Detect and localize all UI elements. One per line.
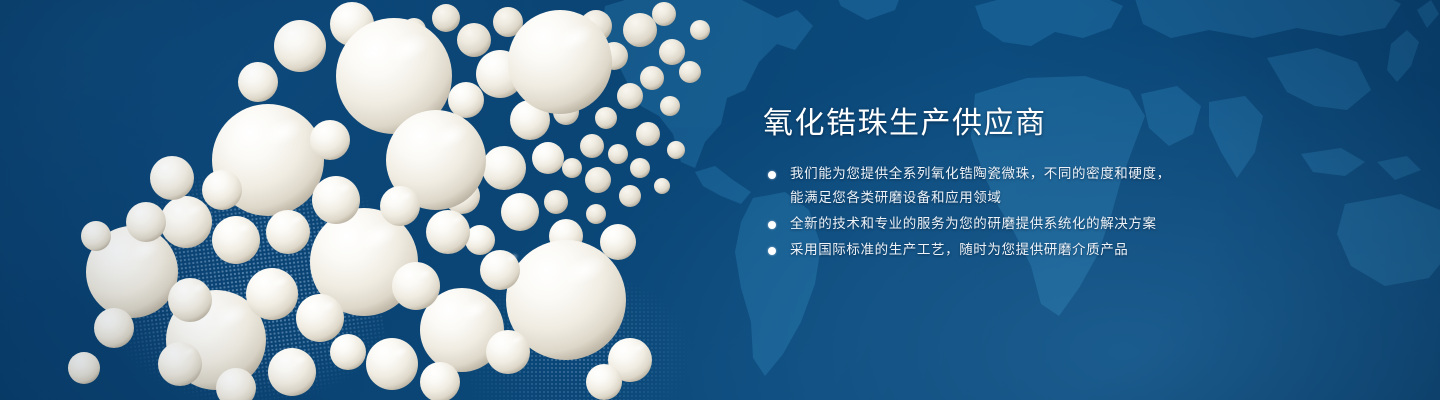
vignette-overlay <box>0 0 1440 400</box>
hero-banner: 氧化锆珠生产供应商 我们能为您提供全系列氧化锆陶瓷微珠，不同的密度和硬度， 能满… <box>0 0 1440 400</box>
